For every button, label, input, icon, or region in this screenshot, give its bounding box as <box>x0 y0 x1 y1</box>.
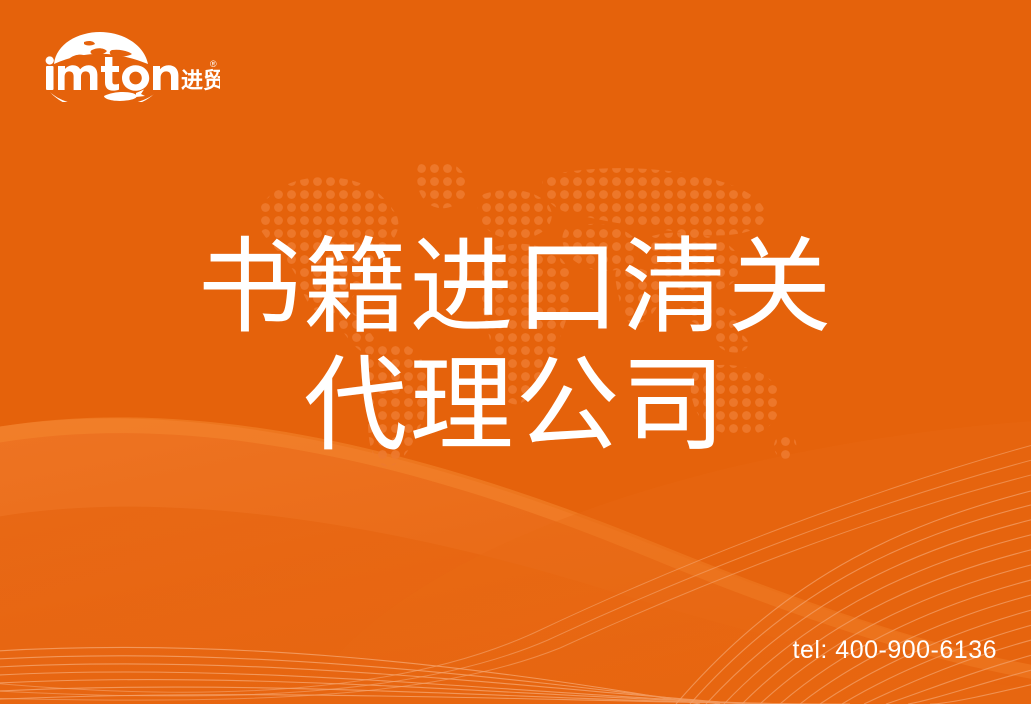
globe-arc-icon <box>54 32 148 64</box>
trademark-icon: ® <box>210 59 217 69</box>
company-logo[interactable]: 进贸通 ® <box>40 30 220 102</box>
swoosh-fish-icon <box>50 90 154 103</box>
promo-banner: 进贸通 ® 书籍进口清关 代理公司 tel: 400-900-6136 <box>0 0 1031 704</box>
contact-phone[interactable]: tel: 400-900-6136 <box>793 636 997 664</box>
page-title: 书籍进口清关 代理公司 <box>0 228 1031 464</box>
logo-wordmark <box>46 56 179 90</box>
headline-line-2: 代理公司 <box>0 346 1031 464</box>
logo-chinese-name: 进贸通 <box>181 69 220 94</box>
headline-line-1: 书籍进口清关 <box>0 228 1031 346</box>
